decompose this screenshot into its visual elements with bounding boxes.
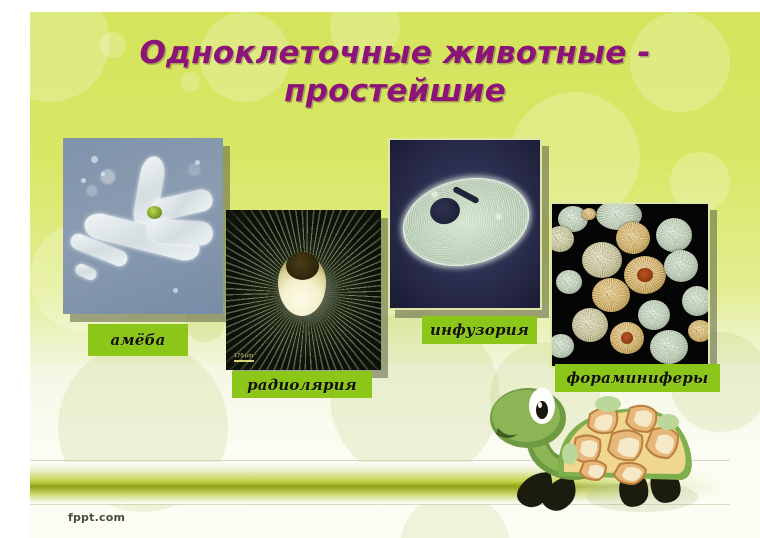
radiolaria-nucleus xyxy=(286,252,319,280)
foraminifera-aperture xyxy=(621,332,633,344)
foraminifera-shell xyxy=(610,322,644,354)
slide-title: Одноклеточные животные - простейшие xyxy=(70,34,720,110)
foraminifera-shell xyxy=(572,308,608,342)
foraminifera-shell xyxy=(638,300,670,330)
foraminifera-shell xyxy=(688,320,710,342)
scale-bar-line xyxy=(234,360,254,362)
foraminifera-shell xyxy=(650,330,688,364)
foraminifera-aperture xyxy=(637,268,652,282)
foraminifera-shell xyxy=(556,270,582,294)
scale-bar-label: 170 µm xyxy=(234,353,253,359)
figure-image-infusoria xyxy=(388,138,542,310)
foraminifera-shell xyxy=(582,208,596,220)
infusoria-vesicle xyxy=(430,190,439,199)
foraminifera-shell xyxy=(550,334,574,358)
infusoria-cell xyxy=(394,167,537,278)
amoeba-speck xyxy=(81,178,86,183)
foraminifera-shell xyxy=(582,242,622,278)
foraminifera-shell xyxy=(592,278,630,312)
foraminifera-shell xyxy=(550,226,574,252)
radiolaria-scale-bar: 170 µm xyxy=(234,353,254,362)
figure-image-foraminifera xyxy=(550,202,710,368)
watermark-fppt: fppt.com xyxy=(68,511,125,524)
figure-caption-infusoria: инфузория xyxy=(422,316,537,344)
amoeba-pseudopod xyxy=(146,218,214,247)
amoeba-speck xyxy=(101,172,105,176)
figure-caption-amoeba: амёба xyxy=(88,324,188,356)
figure-image-radiolaria: 170 µm xyxy=(226,210,381,370)
amoeba-speck xyxy=(91,156,98,163)
infusoria-vesicle xyxy=(494,212,503,221)
amoeba-speck xyxy=(173,288,178,293)
presentation-slide: Одноклеточные животные - простейшие 170 … xyxy=(0,0,760,538)
foraminifera-shell xyxy=(656,218,692,252)
foraminifera-shell xyxy=(682,286,710,316)
figure-image-amoeba xyxy=(63,138,223,314)
amoeba-pseudopod xyxy=(73,262,98,282)
figure-caption-radiolaria: радиолярия xyxy=(232,371,372,398)
cartoon-turtle-illustration xyxy=(480,380,700,520)
foraminifera-shell xyxy=(624,256,666,294)
slide-canvas: Одноклеточные животные - простейшие 170 … xyxy=(30,12,760,538)
foraminifera-shell xyxy=(664,250,698,282)
amoeba-speck xyxy=(195,160,200,165)
amoeba-nucleus xyxy=(147,206,162,219)
foraminifera-shell xyxy=(616,222,650,254)
